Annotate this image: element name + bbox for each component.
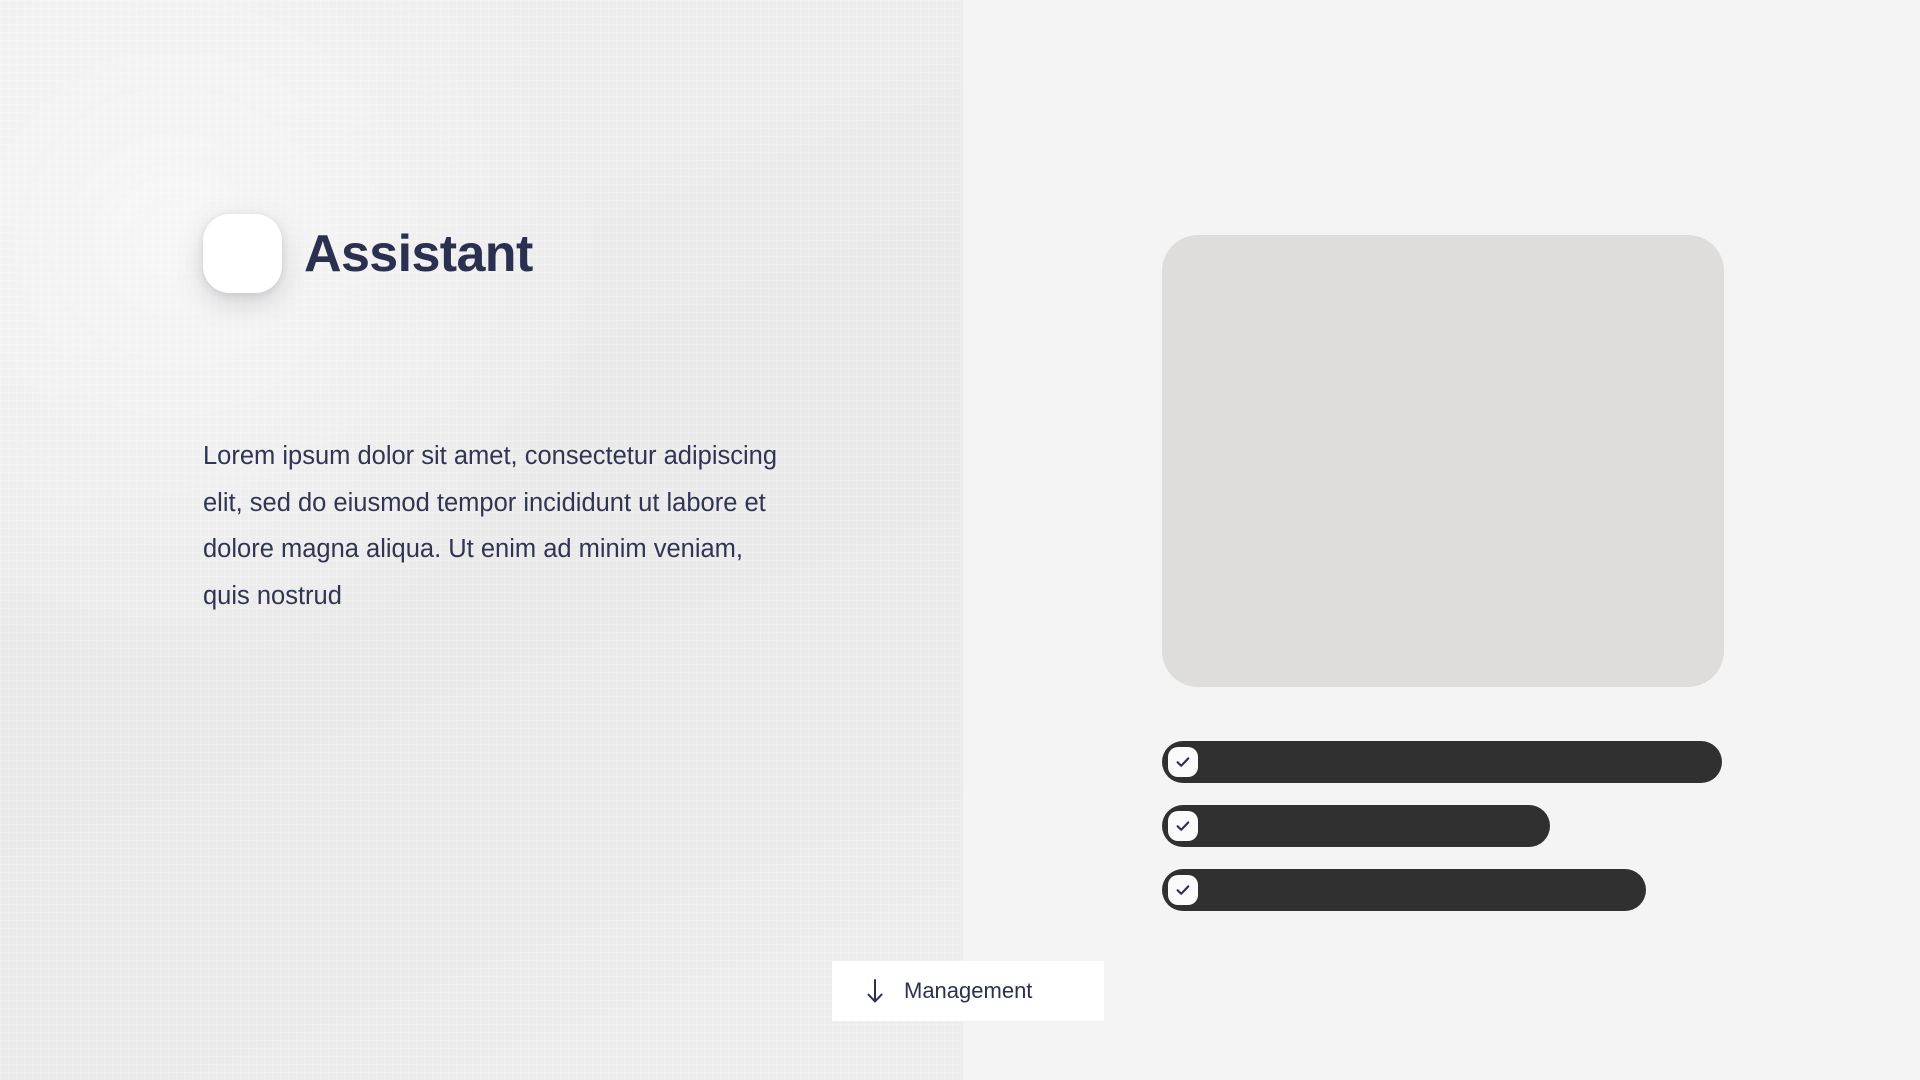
description-paragraph: Lorem ipsum dolor sit amet, consectetur …: [203, 433, 788, 619]
preview-placeholder-card: [1162, 235, 1724, 687]
management-button-label: Management: [904, 978, 1032, 1004]
list-item[interactable]: [1162, 805, 1550, 847]
list-item[interactable]: [1162, 869, 1646, 911]
management-button[interactable]: Management: [832, 961, 1104, 1021]
left-panel: Assistant Lorem ipsum dolor sit amet, co…: [0, 0, 963, 1080]
checkbox-checked-icon[interactable]: [1168, 875, 1198, 905]
checkbox-checked-icon[interactable]: [1168, 811, 1198, 841]
page-title: Assistant: [304, 228, 533, 280]
app-logo-squircle-icon: [203, 214, 282, 293]
arrow-down-icon: [864, 976, 886, 1006]
checklist: [1162, 741, 1722, 911]
checkbox-checked-icon[interactable]: [1168, 747, 1198, 777]
list-item[interactable]: [1162, 741, 1722, 783]
brand-header: Assistant: [203, 214, 533, 293]
app-root: Assistant Lorem ipsum dolor sit amet, co…: [0, 0, 1920, 1080]
